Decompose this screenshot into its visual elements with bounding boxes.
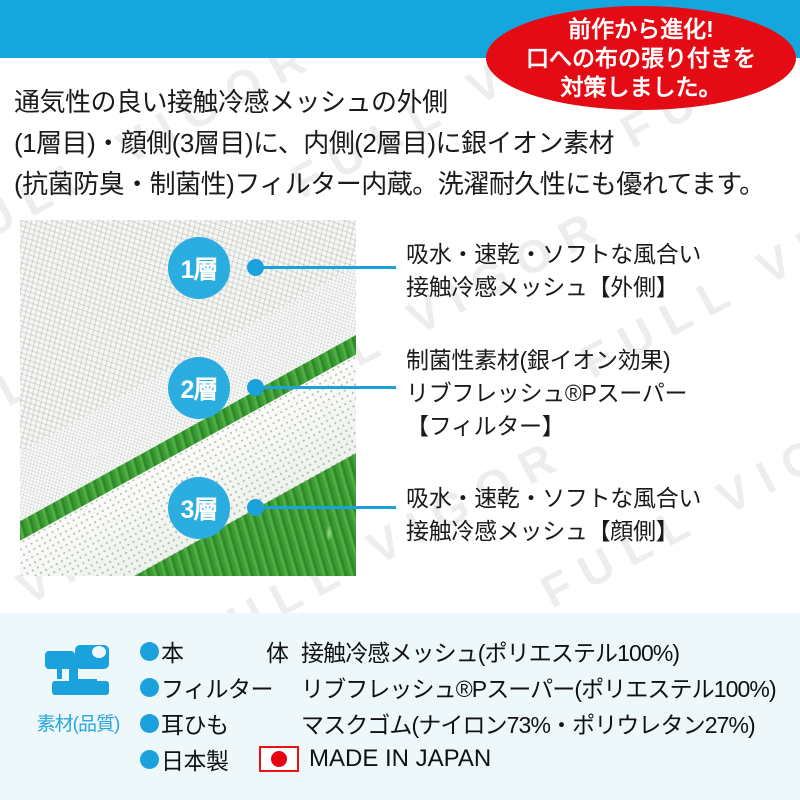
intro-line-2: (1層目)・顔側(3層目)に、内側(2層目)に銀イオン素材 xyxy=(14,123,800,164)
japan-flag-sun xyxy=(271,751,287,767)
promo-badge-line-3: 対策しました。 xyxy=(526,73,756,102)
spec-row: 耳ひも マスクゴム(ナイロン73%・ポリウレタン27%) xyxy=(140,705,776,741)
bullet-icon xyxy=(140,714,159,733)
spec-key-origin: 日本製 xyxy=(161,742,259,776)
spec-row: フィルター リブフレッシュ®Pスーパー(ポリエステル100%) xyxy=(140,669,776,705)
layer-connector-3 xyxy=(258,506,396,509)
spec-key: フィルター xyxy=(161,670,301,704)
spec-value: 接触冷感メッシュ(ポリエステル100%) xyxy=(301,634,679,668)
layer-annotation-2: 制菌性素材(銀イオン効果) リブフレッシュ®Pスーパー 【フィルター】 xyxy=(406,344,687,443)
layer-badge-2: 2層 xyxy=(168,357,230,419)
layer-connector-2 xyxy=(258,386,396,389)
layer-annotation-3-line-2: 接触冷感メッシュ【顔側】 xyxy=(406,515,701,548)
promo-badge-text: 前作から進化! 口への布の張り付きを 対策しました。 xyxy=(526,15,756,102)
infographic-page: FULL VIGOR FULL VIGOR FULL VIGOR FULL VI… xyxy=(0,0,800,800)
spec-key: 耳ひも xyxy=(161,706,301,740)
made-in-japan-text: MADE IN JAPAN xyxy=(309,745,491,773)
specs-list: 本 体 接触冷感メッシュ(ポリエステル100%) フィルター リブフレッシュ®P… xyxy=(140,633,776,777)
layer-annotation-2-line-1: 制菌性素材(銀イオン効果) xyxy=(406,344,687,377)
specs-panel: 素材(品質) 本 体 接触冷感メッシュ(ポリエステル100%) フィルター リブ… xyxy=(0,613,800,800)
material-icon-label: 素材(品質) xyxy=(37,709,120,736)
promo-badge: 前作から進化! 口への布の張り付きを 対策しました。 xyxy=(486,6,796,110)
promo-badge-line-1: 前作から進化! xyxy=(526,15,756,44)
promo-badge-line-2: 口への布の張り付きを xyxy=(526,44,756,73)
bullet-icon xyxy=(140,642,159,661)
spec-value: リブフレッシュ®Pスーパー(ポリエステル100%) xyxy=(301,670,776,704)
layer-annotation-3: 吸水・速乾・ソフトな風合い 接触冷感メッシュ【顔側】 xyxy=(406,482,701,548)
spec-row-origin: 日本製 MADE IN JAPAN xyxy=(140,741,776,777)
layer-annotation-3-line-1: 吸水・速乾・ソフトな風合い xyxy=(406,482,701,515)
spec-value: マスクゴム(ナイロン73%・ポリウレタン27%) xyxy=(301,706,755,740)
layer-annotation-2-line-3: 【フィルター】 xyxy=(406,410,687,443)
intro-line-3: (抗菌防臭・制菌性)フィルター内蔵。洗濯耐久性にも優れてます。 xyxy=(14,164,800,205)
spec-key: 本 体 xyxy=(161,634,301,668)
bullet-icon xyxy=(140,678,159,697)
material-icon-group: 素材(品質) xyxy=(18,641,138,736)
sewing-machine-icon xyxy=(39,641,117,703)
layer-badge-1: 1層 xyxy=(168,237,230,299)
bullet-icon xyxy=(140,750,159,769)
layer-badge-3: 3層 xyxy=(168,477,230,539)
layer-connector-1 xyxy=(258,266,396,269)
layer-annotation-1-line-2: 接触冷感メッシュ【外側】 xyxy=(406,271,701,304)
layer-annotation-2-line-2: リブフレッシュ®Pスーパー xyxy=(406,377,687,410)
japan-flag-icon xyxy=(259,746,299,772)
spec-row: 本 体 接触冷感メッシュ(ポリエステル100%) xyxy=(140,633,776,669)
layer-annotation-1: 吸水・速乾・ソフトな風合い 接触冷感メッシュ【外側】 xyxy=(406,238,701,304)
layer-annotation-1-line-1: 吸水・速乾・ソフトな風合い xyxy=(406,238,701,271)
